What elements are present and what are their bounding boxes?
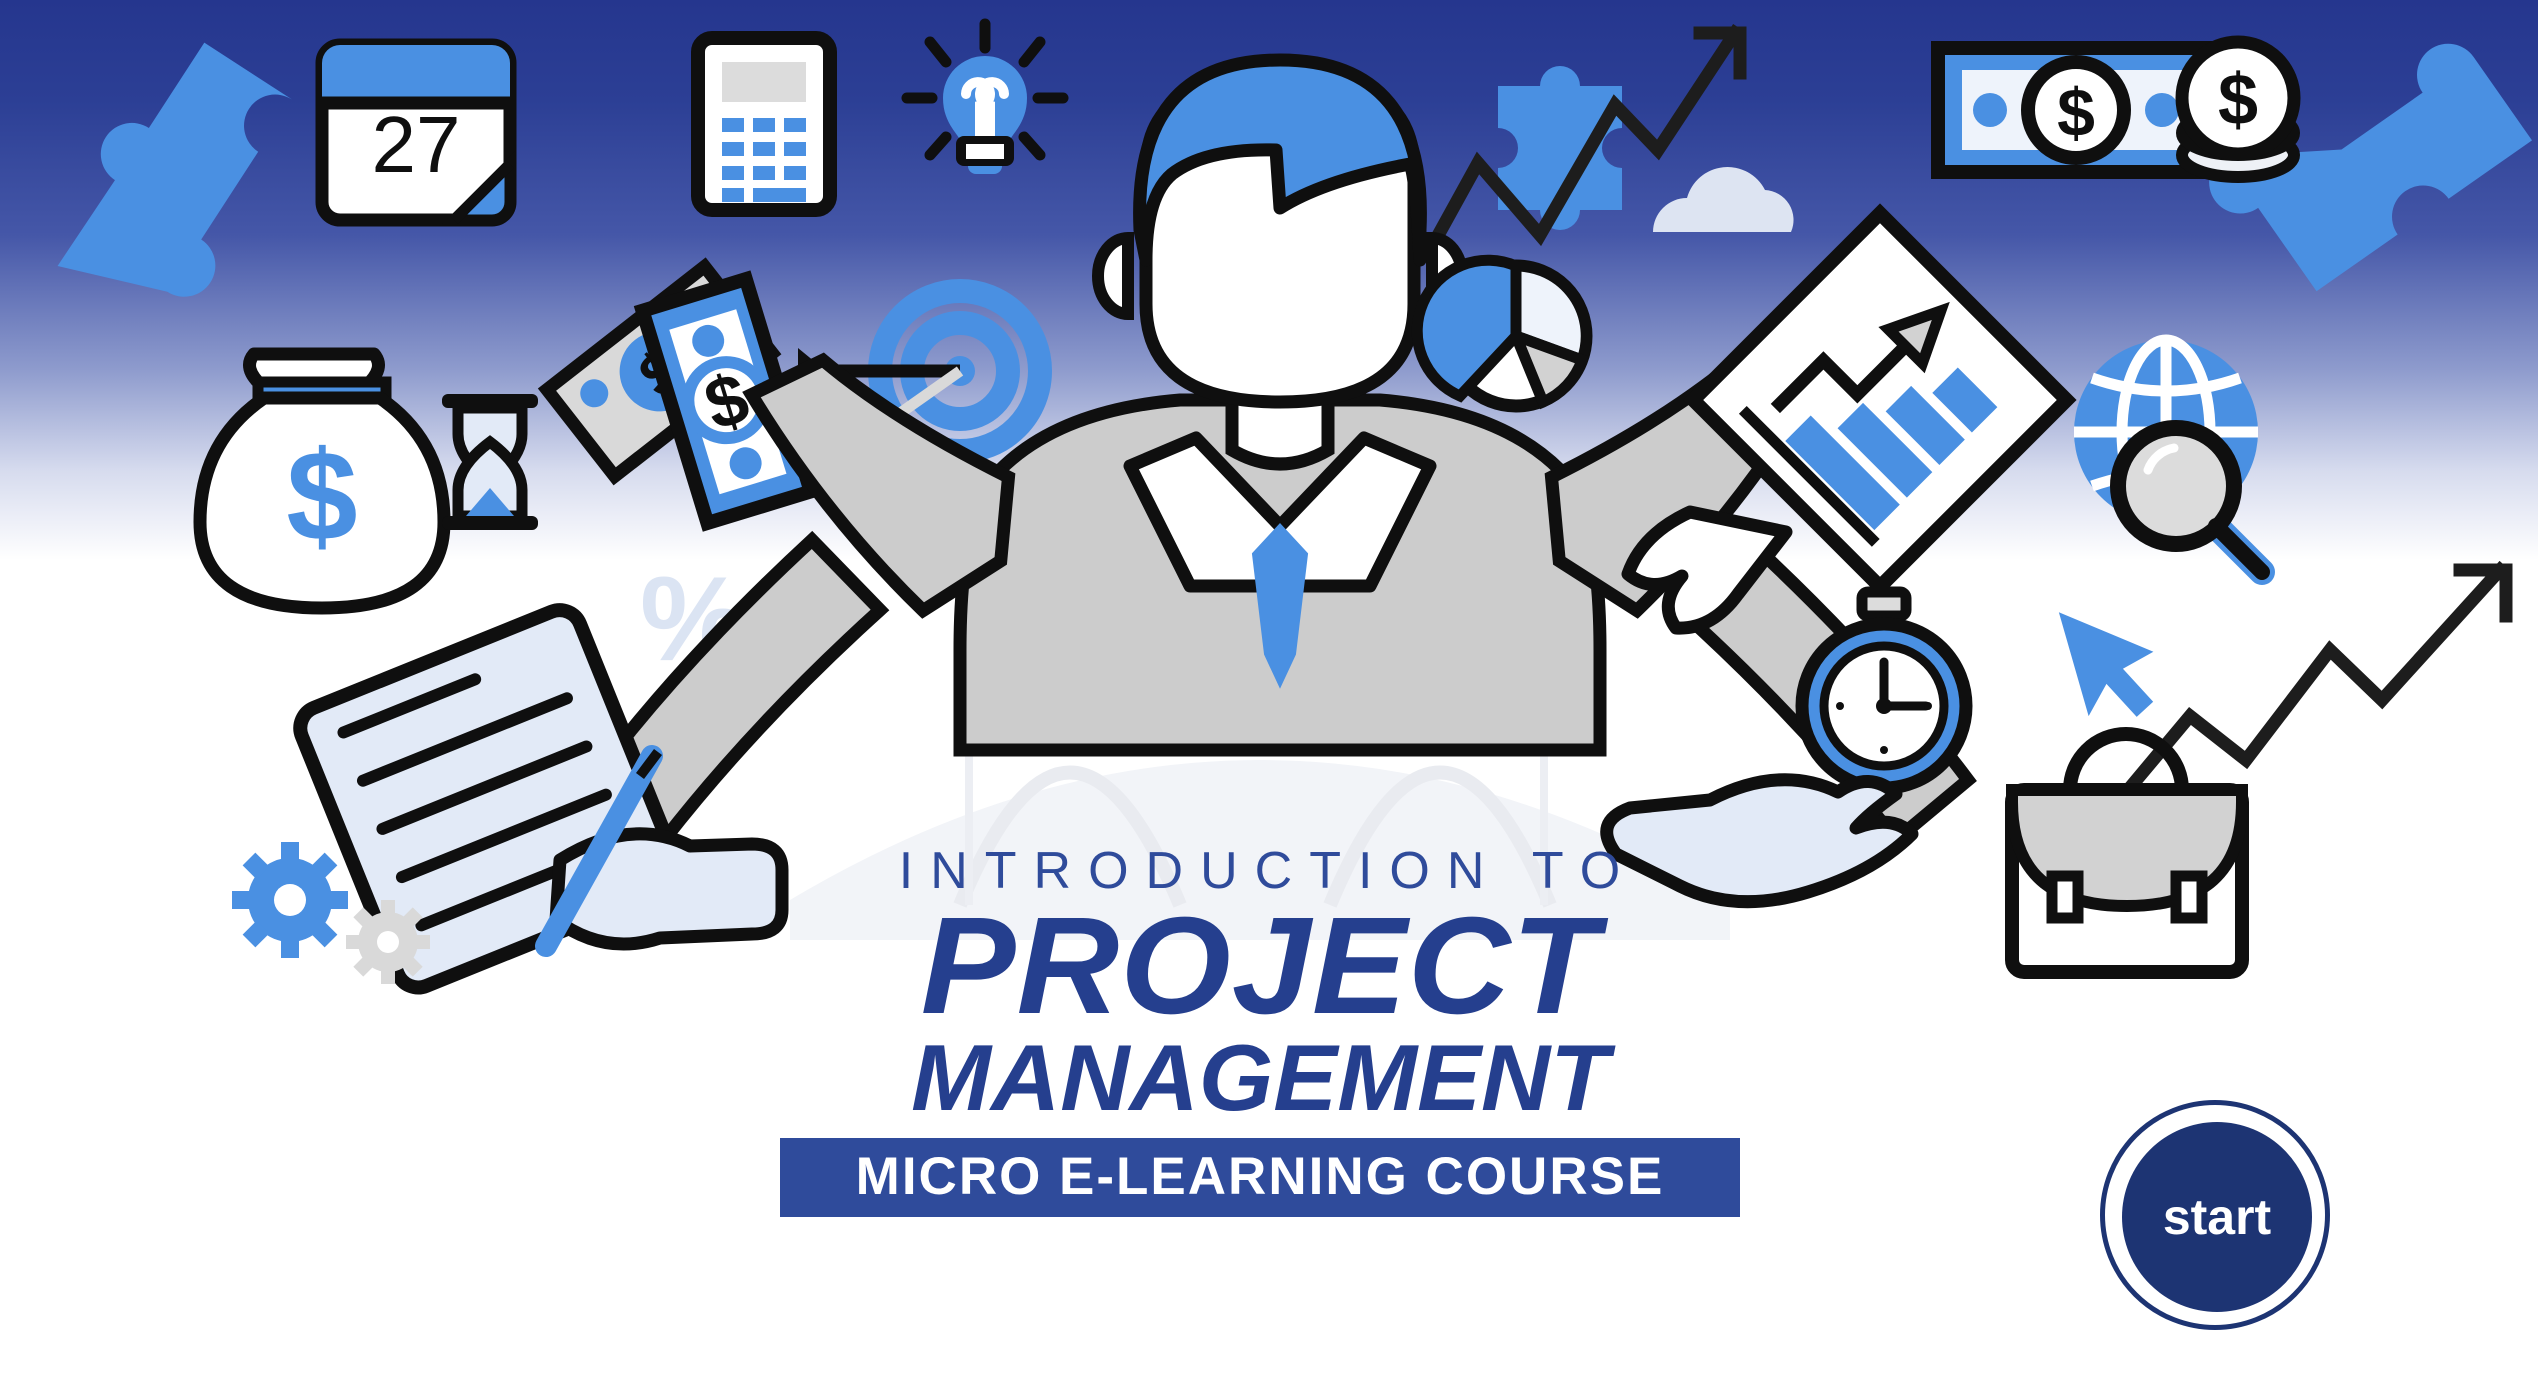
lightbulb-icon bbox=[907, 24, 1063, 174]
subtitle-bar: MICRO E-LEARNING COURSE bbox=[780, 1138, 1740, 1217]
start-button[interactable]: start bbox=[2100, 1100, 2340, 1340]
headline-line-2: MANAGEMENT bbox=[770, 1032, 1749, 1124]
puzzle-piece-icon bbox=[18, 27, 327, 322]
calendar-day-number: 27 bbox=[372, 100, 461, 189]
money-bag-icon: $ bbox=[200, 354, 444, 608]
start-button-label[interactable]: start bbox=[2122, 1122, 2312, 1312]
svg-text:$: $ bbox=[2218, 60, 2258, 140]
calculator-icon bbox=[698, 38, 830, 210]
calendar-icon: 27 bbox=[322, 45, 510, 220]
banner-root: 27 bbox=[0, 0, 2538, 1395]
briefcase-icon bbox=[2012, 734, 2242, 972]
headline-line-1: PROJECT bbox=[766, 903, 1755, 1030]
cloud-icon bbox=[1653, 167, 1794, 232]
coin-stack-icon: $ bbox=[2182, 42, 2294, 177]
hourglass-icon bbox=[442, 394, 538, 530]
growth-arrow-icon bbox=[2128, 570, 2506, 790]
banknote-icon: $ bbox=[1938, 48, 2214, 172]
svg-text:$: $ bbox=[2057, 75, 2095, 151]
title-block: INTRODUCTION TO PROJECT MANAGEMENT MICRO… bbox=[780, 845, 1740, 1217]
svg-text:$: $ bbox=[286, 425, 357, 568]
pie-chart-icon bbox=[1417, 260, 1586, 406]
mouse-cursor-icon bbox=[2059, 590, 2170, 729]
